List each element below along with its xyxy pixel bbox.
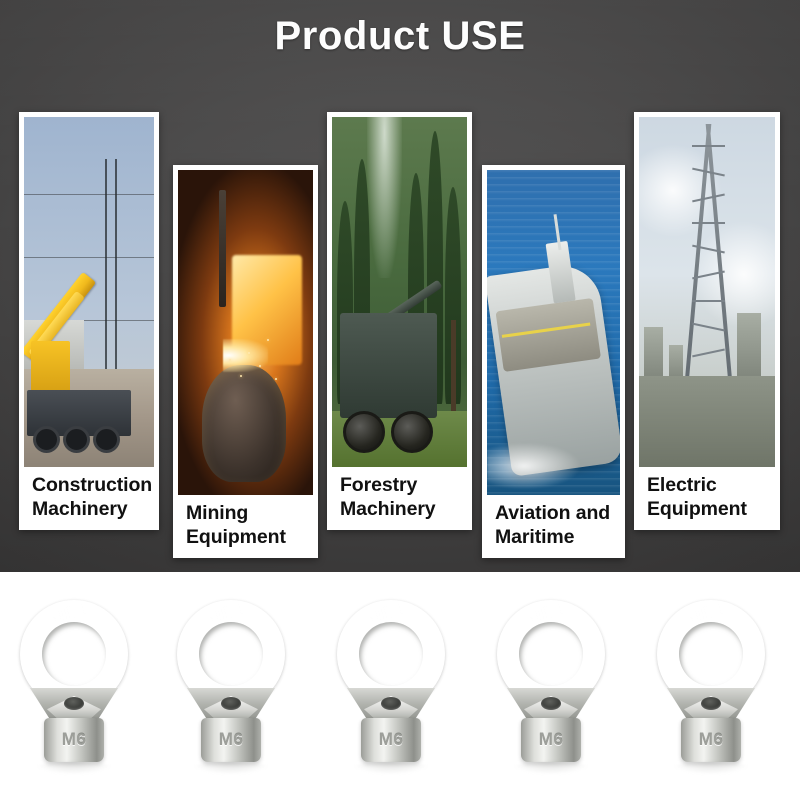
eye-nut-thread-bore <box>541 697 561 710</box>
eye-nut-base: M6 <box>681 718 741 762</box>
product-section: M6 M6 <box>0 572 800 800</box>
eye-nut-reflection <box>672 762 750 774</box>
eye-nut-reflection <box>512 762 590 774</box>
eye-nut-eye-hole <box>199 622 263 686</box>
eye-nut-reflection <box>35 762 113 774</box>
usage-caption-mining: Mining Equipment <box>178 495 313 558</box>
usage-card-aviation[interactable]: Aviation and Maritime <box>482 165 625 558</box>
usage-caption-aviation: Aviation and Maritime <box>487 495 620 558</box>
scene-crane <box>24 117 154 467</box>
usage-photo-construction <box>24 117 154 467</box>
usage-card-mining[interactable]: Mining Equipment <box>173 165 318 558</box>
product-usage-infographic: Product USE <box>0 0 800 800</box>
eye-nut-base: M6 <box>521 718 581 762</box>
eye-nut-eye-hole <box>519 622 583 686</box>
eye-nut-thread-bore <box>381 697 401 710</box>
eye-nut-size-marking: M6 <box>201 730 261 750</box>
eye-nut-thread-bore <box>221 697 241 710</box>
eye-nut-row: M6 M6 <box>0 572 800 800</box>
scene-harvester <box>332 117 467 467</box>
scene-carrier <box>487 170 620 495</box>
eye-nut-size-marking: M6 <box>521 730 581 750</box>
eye-nut-thread-bore <box>64 697 84 710</box>
eye-nut-size-marking: M6 <box>44 730 104 750</box>
eye-nut-item[interactable]: M6 <box>13 600 135 768</box>
eye-nut-item[interactable]: M6 <box>490 600 612 768</box>
scene-foundry <box>178 170 313 495</box>
usage-caption-electric: Electric Equipment <box>639 467 775 530</box>
usage-photo-forestry <box>332 117 467 467</box>
eye-nut-item[interactable]: M6 <box>330 600 452 768</box>
usage-photo-aviation <box>487 170 620 495</box>
eye-nut-thread-bore <box>701 697 721 710</box>
eye-nut-base: M6 <box>44 718 104 762</box>
eye-nut-item[interactable]: M6 <box>650 600 772 768</box>
eye-nut-item[interactable]: M6 <box>170 600 292 768</box>
usage-caption-construction: Construction Machinery <box>24 467 154 530</box>
page-title: Product USE <box>0 14 800 59</box>
eye-nut-eye-hole <box>359 622 423 686</box>
scene-pylon <box>639 117 775 467</box>
eye-nut-reflection <box>192 762 270 774</box>
usage-card-forestry[interactable]: Forestry Machinery <box>327 112 472 530</box>
eye-nut-eye-hole <box>679 622 743 686</box>
eye-nut-size-marking: M6 <box>681 730 741 750</box>
usage-section: Product USE <box>0 0 800 572</box>
usage-caption-forestry: Forestry Machinery <box>332 467 467 530</box>
usage-photo-mining <box>178 170 313 495</box>
eye-nut-eye-hole <box>42 622 106 686</box>
eye-nut-base: M6 <box>201 718 261 762</box>
eye-nut-size-marking: M6 <box>361 730 421 750</box>
usage-photo-electric <box>639 117 775 467</box>
eye-nut-reflection <box>352 762 430 774</box>
usage-card-construction[interactable]: Construction Machinery <box>19 112 159 530</box>
eye-nut-base: M6 <box>361 718 421 762</box>
usage-card-electric[interactable]: Electric Equipment <box>634 112 780 530</box>
